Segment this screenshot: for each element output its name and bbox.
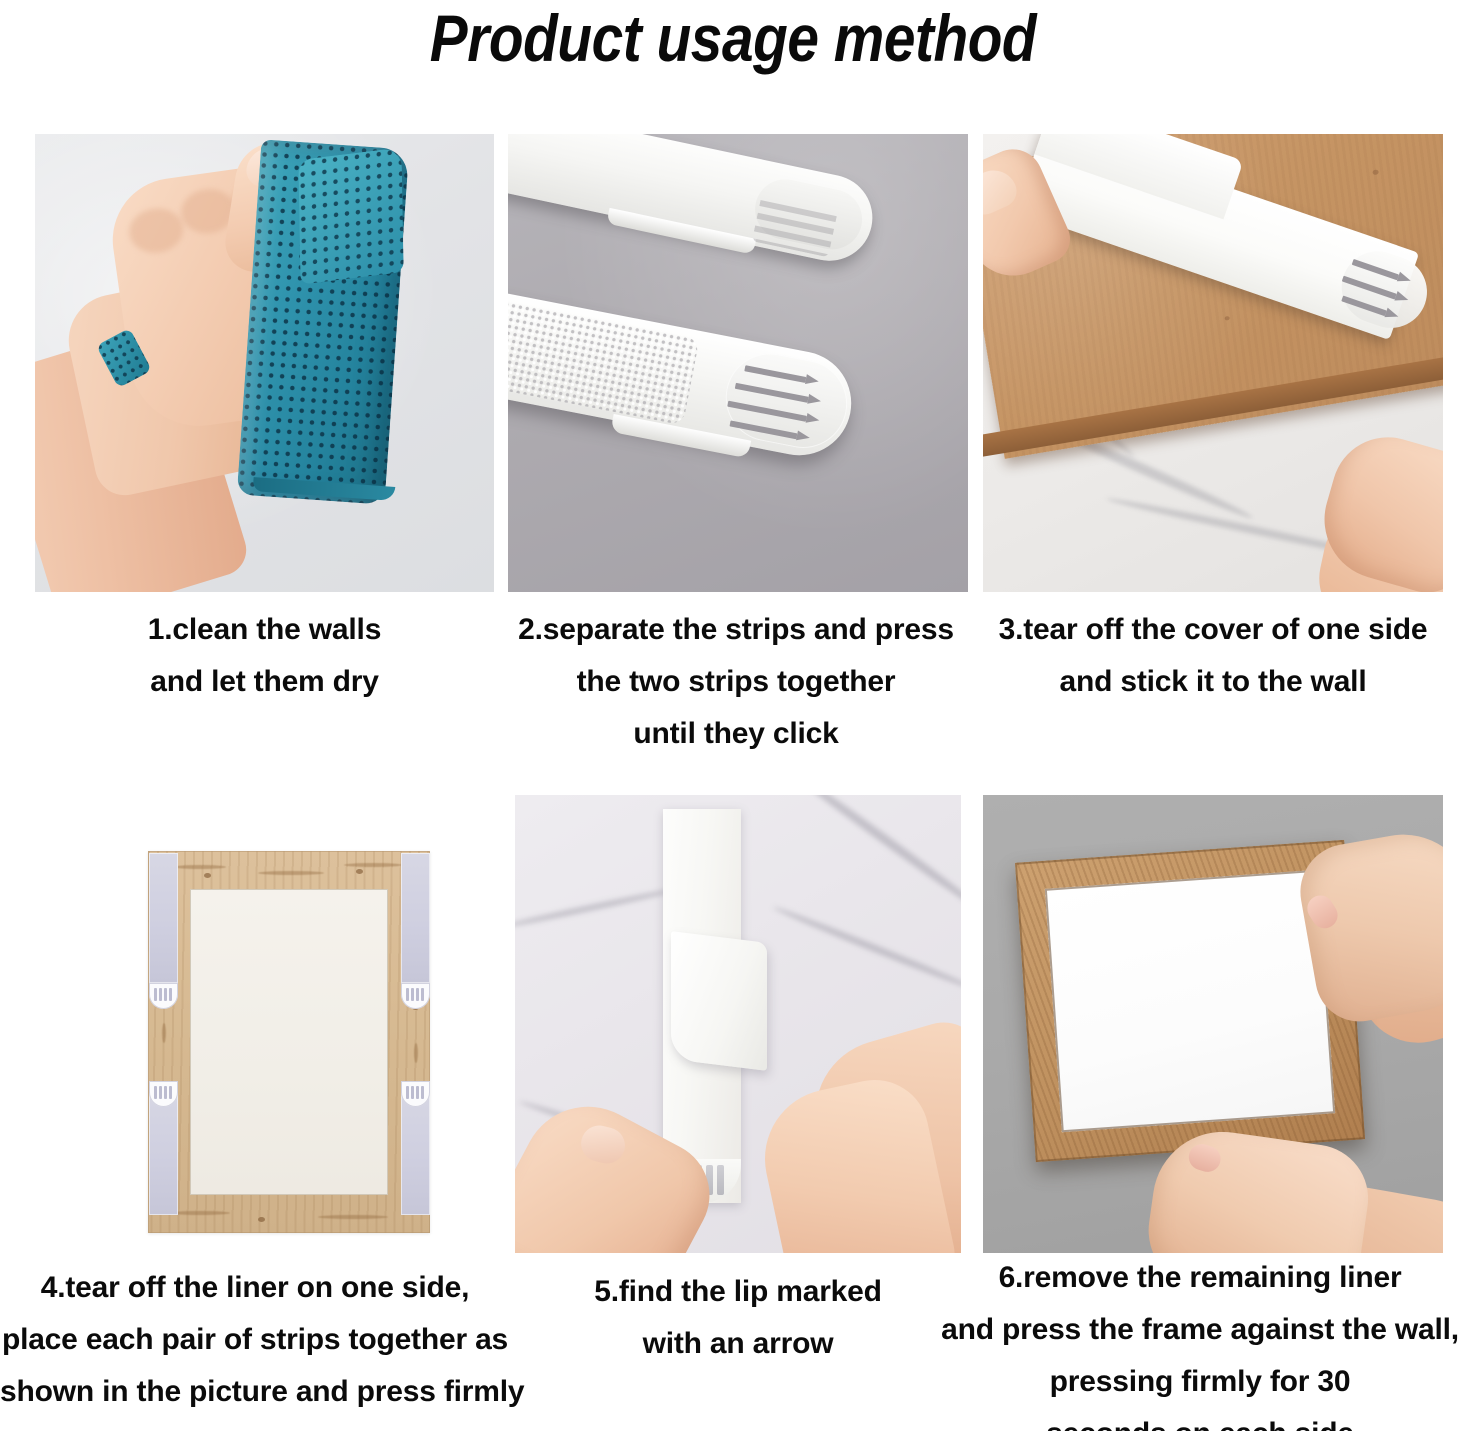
pull-tab-upper xyxy=(750,174,868,255)
arrow-down-icon xyxy=(411,988,414,1001)
wood-grain xyxy=(174,865,226,869)
wood-grain xyxy=(318,1215,388,1219)
wood-grain xyxy=(162,1023,166,1043)
mounting-strip-top-left xyxy=(149,853,178,983)
strip-liner-fold xyxy=(671,931,767,1071)
wood-grain xyxy=(170,1211,230,1215)
arrow-down-icon xyxy=(416,1086,419,1099)
frame-white-interior xyxy=(1045,870,1335,1133)
step-5-image-finger-pointing-to-arrow-lip xyxy=(515,795,961,1253)
faint-arrow-print-icon xyxy=(752,194,838,257)
wood-knot xyxy=(258,1217,265,1222)
arrow-down-icon xyxy=(154,988,157,1001)
fingernail xyxy=(577,1122,628,1168)
page-title: Product usage method xyxy=(103,2,1364,74)
arrow-right-icon xyxy=(729,417,731,428)
step-3-caption: 3.tear off the cover of one side and sti… xyxy=(968,604,1458,708)
fingernail xyxy=(1302,891,1342,934)
cloth-fold xyxy=(298,147,403,284)
arrow-down-icon xyxy=(421,988,424,1001)
arrow-down-icon xyxy=(164,1086,167,1099)
step-1-image-hand-wiping-wall-with-cloth xyxy=(35,134,494,592)
wood-knot xyxy=(356,869,363,874)
marble-vein xyxy=(515,885,684,930)
arrow-right-icon xyxy=(744,362,746,373)
arrow-down-icon xyxy=(421,1086,424,1099)
wood-knot xyxy=(204,873,211,878)
arrow-down-icon xyxy=(169,1086,172,1099)
arrow-right-icon xyxy=(727,398,729,409)
arrow-down-icon xyxy=(416,988,419,1001)
wood-grain xyxy=(414,1043,418,1063)
board-speck xyxy=(1372,169,1379,175)
frame-backing-mat xyxy=(190,889,388,1195)
arrow-down-icon xyxy=(406,1086,409,1099)
fingernail xyxy=(983,163,1022,220)
arrow-right-icon xyxy=(734,380,736,391)
board-speck xyxy=(1224,316,1230,321)
fingernail xyxy=(1185,1141,1223,1176)
arrow-right-icon xyxy=(1351,256,1355,266)
marble-vein xyxy=(772,904,961,993)
mounting-strip-top-right xyxy=(401,853,430,983)
arrow-right-icon xyxy=(1341,273,1345,283)
arrow-right-icon xyxy=(1341,293,1345,303)
step-5-caption: 5.find the lip marked with an arrow xyxy=(500,1266,976,1370)
arrow-down-icon xyxy=(154,1086,157,1099)
knuckle xyxy=(126,205,186,256)
step-6-image-hands-pressing-frame xyxy=(983,795,1443,1253)
step-2-image-two-adhesive-strips xyxy=(508,134,968,592)
wood-grain xyxy=(344,863,402,867)
arrow-down-icon xyxy=(406,988,409,1001)
step-6-caption: 6.remove the remaining liner and press t… xyxy=(940,1252,1460,1431)
arrow-down-icon xyxy=(169,988,172,1001)
arrow-down-icon xyxy=(164,988,167,1001)
arrow-down-icon xyxy=(717,1165,724,1195)
step-4-image-frame-back-with-strips xyxy=(20,795,486,1253)
arrow-down-icon xyxy=(411,1086,414,1099)
arrow-down-icon xyxy=(159,1086,162,1099)
step-3-image-strip-on-board-edge xyxy=(983,134,1443,592)
product-usage-infographic: Product usage method 1.clean the walls a… xyxy=(0,0,1466,1431)
arrow-down-icon xyxy=(159,988,162,1001)
step-4-caption: 4.tear off the liner on one side, place … xyxy=(0,1262,510,1418)
step-1-caption: 1.clean the walls and let them dry xyxy=(35,604,494,708)
wood-grain xyxy=(258,871,324,875)
step-2-caption: 2.separate the strips and press the two … xyxy=(494,604,978,760)
marble-vein xyxy=(777,795,961,920)
